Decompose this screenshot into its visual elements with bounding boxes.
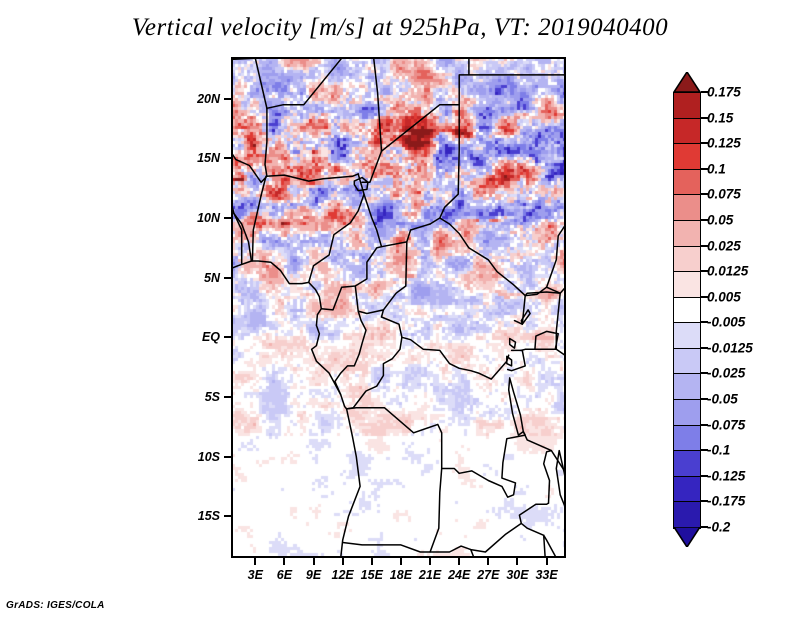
y-axis-tick [224,456,231,458]
vertical-velocity-field [231,57,566,558]
colorbar-band [673,246,701,273]
y-axis-tick [224,277,231,279]
y-axis-label: 5N [173,271,220,285]
x-axis-label: 30E [506,568,528,582]
colorbar-tick [701,270,708,272]
y-axis-tick [224,157,231,159]
colorbar-tick [701,526,708,528]
x-axis-tick [546,558,548,565]
x-axis-tick [371,558,373,565]
colorbar-label: 0.175 [707,85,741,100]
x-axis-label: 3E [248,568,263,582]
colorbar-band [673,476,701,503]
colorbar-label: -0.125 [707,468,745,483]
colorbar-top-arrow [673,72,701,92]
x-axis-tick [400,558,402,565]
y-axis-label: EQ [173,330,220,344]
x-axis-tick [429,558,431,565]
colorbar-band [673,92,701,119]
colorbar-band [673,118,701,145]
colorbar-tick [701,449,708,451]
colorbar-tick [701,372,708,374]
colorbar-tick [701,398,708,400]
y-axis-tick [224,217,231,219]
colorbar-band [673,194,701,221]
colorbar-label: -0.0125 [707,340,753,355]
colorbar-tick [701,219,708,221]
x-axis-tick [487,558,489,565]
x-axis-tick [516,558,518,565]
colorbar-label: -0.075 [707,417,745,432]
colorbar-tick [701,347,708,349]
x-axis-tick [458,558,460,565]
colorbar-tick [701,117,708,119]
colorbar-band [673,501,701,528]
colorbar-band [673,373,701,400]
colorbar-band [673,297,701,324]
colorbar-tick [701,321,708,323]
colorbar-tick [701,142,708,144]
colorbar-band [673,271,701,298]
colorbar-label: -0.2 [707,520,730,535]
colorbar-label: 0.075 [707,187,741,202]
y-axis-label: 10N [173,211,220,225]
colorbar-band [673,348,701,375]
colorbar-label: 0.0125 [707,264,748,279]
colorbar-label: -0.005 [707,315,745,330]
x-axis-tick [313,558,315,565]
x-axis-label: 33E [535,568,557,582]
colorbar-label: 0.025 [707,238,741,253]
colorbar-bottom-arrow [673,527,701,547]
colorbar-label: 0.005 [707,289,741,304]
map-borders [231,57,566,558]
x-axis-label: 24E [448,568,470,582]
grads-credit: GrADS: IGES/COLA [6,600,105,611]
x-axis-tick [342,558,344,565]
colorbar-tick [701,424,708,426]
colorbar-band [673,425,701,452]
colorbar-label: -0.175 [707,494,745,509]
y-axis-label: 5S [173,390,220,404]
y-axis-tick [224,98,231,100]
colorbar-tick [701,91,708,93]
colorbar-label: 0.125 [707,136,741,151]
colorbar-tick [701,475,708,477]
x-axis-tick [254,558,256,565]
colorbar-tick [701,296,708,298]
colorbar-band [673,450,701,477]
x-axis-label: 6E [277,568,292,582]
x-axis-label: 9E [306,568,321,582]
colorbar-tick [701,193,708,195]
y-axis-label: 15S [173,509,220,523]
colorbar-tick [701,168,708,170]
colorbar-band [673,322,701,349]
y-axis-tick [224,336,231,338]
page-title: Vertical velocity [m/s] at 925hPa, VT: 2… [0,14,800,42]
colorbar-label: -0.1 [707,443,730,458]
colorbar-label: 0.15 [707,110,733,125]
y-axis-label: 15N [173,151,220,165]
colorbar-label: 0.1 [707,161,726,176]
colorbar: 0.1750.150.1250.10.0750.050.0250.01250.0… [673,72,701,547]
colorbar-tick [701,500,708,502]
y-axis-tick [224,515,231,517]
x-axis-label: 15E [361,568,383,582]
x-axis-label: 27E [477,568,499,582]
colorbar-label: -0.025 [707,366,745,381]
map-plot-area: 20N15N10N5NEQ5S10S15S3E6E9E12E15E18E21E2… [231,57,566,558]
colorbar-band [673,169,701,196]
x-axis-label: 12E [332,568,354,582]
y-axis-label: 20N [173,92,220,106]
colorbar-band [673,399,701,426]
colorbar-label: -0.05 [707,392,738,407]
colorbar-label: 0.05 [707,212,733,227]
y-axis-label: 10S [173,450,220,464]
colorbar-band [673,143,701,170]
x-axis-tick [283,558,285,565]
y-axis-tick [224,396,231,398]
colorbar-tick [701,245,708,247]
x-axis-label: 18E [390,568,412,582]
colorbar-band [673,220,701,247]
x-axis-label: 21E [419,568,441,582]
